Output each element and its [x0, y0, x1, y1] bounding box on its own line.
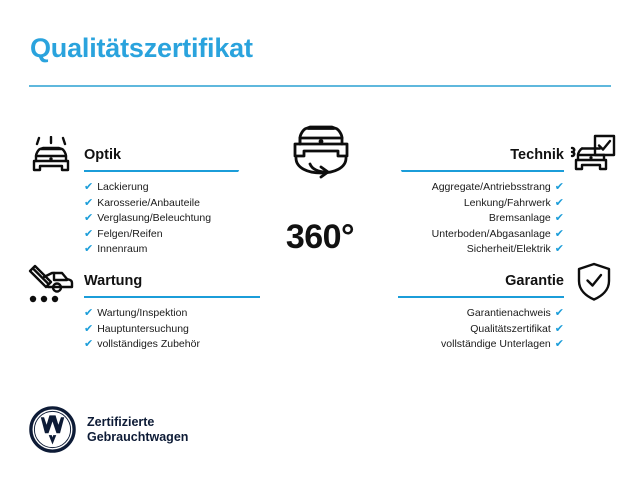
badge-number: 360° [228, 218, 412, 257]
list-item-label: Qualitätszertifikat [470, 323, 551, 335]
check-icon: ✔ [84, 211, 93, 227]
list-item-label: Lackierung [97, 181, 148, 193]
vw-footer-line1: Zertifizierte [87, 415, 188, 430]
check-icon: ✔ [84, 306, 93, 322]
section-garantie-divider [398, 296, 564, 298]
list-item: ✔vollständiges Zubehör [84, 337, 260, 353]
check-icon: ✔ [84, 337, 93, 353]
section-garantie-header: Garantie [398, 272, 564, 298]
list-item: vollständige Unterlagen✔ [398, 337, 564, 353]
list-item-label: Hauptuntersuchung [97, 323, 189, 335]
list-item-label: Sicherheit/Elektrik [467, 243, 551, 255]
list-item: Bremsanlage✔ [398, 211, 564, 227]
list-item: Garantienachweis✔ [398, 306, 564, 322]
check-icon: ✔ [84, 227, 93, 243]
section-wartung-list: ✔Wartung/Inspektion ✔Hauptuntersuchung ✔… [84, 306, 260, 353]
list-item-label: Garantienachweis [467, 307, 551, 319]
list-item-label: Innenraum [97, 243, 147, 255]
car-rotate-icon [276, 110, 366, 182]
list-item: Sicherheit/Elektrik✔ [398, 242, 564, 258]
vw-logo [29, 406, 76, 453]
check-icon: ✔ [84, 180, 93, 196]
list-item: Aggregate/Antriebsstrang✔ [398, 180, 564, 196]
list-item: Unterboden/Abgasanlage✔ [398, 227, 564, 243]
section-garantie-title: Garantie [398, 272, 564, 290]
check-icon: ✔ [555, 227, 564, 243]
check-icon: ✔ [555, 196, 564, 212]
section-technik-divider [398, 170, 564, 172]
car-shine-icon [26, 136, 76, 183]
check-icon: ✔ [84, 322, 93, 338]
section-technik-list: Aggregate/Antriebsstrang✔ Lenkung/Fahrwe… [398, 180, 564, 258]
section-garantie: Garantie Garantienachweis✔ Qualitätszert… [398, 272, 564, 353]
check-icon: ✔ [555, 242, 564, 258]
car-checkbox-icon [569, 134, 617, 183]
360-gebrauchtwagen-check-badge: Gebrauchtwagen-Check 360° [228, 122, 412, 306]
section-technik-header: Technik [398, 146, 564, 172]
list-item-label: Bremsanlage [489, 212, 551, 224]
check-icon: ✔ [84, 242, 93, 258]
list-item-label: Aggregate/Antriebsstrang [432, 181, 551, 193]
list-item-label: Karosserie/Anbauteile [97, 197, 200, 209]
vw-footer-text: Zertifizierte Gebrauchtwagen [87, 415, 188, 445]
title-divider [29, 85, 611, 87]
list-item-label: Unterboden/Abgasanlage [432, 228, 551, 240]
check-icon: ✔ [84, 196, 93, 212]
check-icon: ✔ [555, 337, 564, 353]
check-icon: ✔ [555, 306, 564, 322]
vw-footer-line2: Gebrauchtwagen [87, 430, 188, 445]
check-icon: ✔ [555, 211, 564, 227]
list-item-label: vollständiges Zubehör [97, 338, 200, 350]
check-icon: ✔ [555, 322, 564, 338]
section-technik: Technik Aggregate/Antriebsstrang✔ Lenkun… [398, 146, 564, 258]
list-item-label: Verglasung/Beleuchtung [97, 212, 211, 224]
list-item-label: Lenkung/Fahrwerk [464, 197, 551, 209]
qualitaetszertifikat-page: Qualitätszertifikat Optik ✔Lackierung ✔K… [0, 0, 640, 480]
list-item-label: Wartung/Inspektion [97, 307, 187, 319]
page-title: Qualitätszertifikat [30, 33, 253, 64]
list-item: ✔Wartung/Inspektion [84, 306, 260, 322]
vw-footer: Zertifizierte Gebrauchtwagen [29, 406, 188, 453]
list-item-label: Felgen/Reifen [97, 228, 162, 240]
section-technik-title: Technik [398, 146, 564, 164]
service-pen-car-icon [24, 263, 76, 312]
list-item: Qualitätszertifikat✔ [398, 322, 564, 338]
check-icon: ✔ [555, 180, 564, 196]
shield-check-icon [574, 261, 614, 308]
list-item: ✔Hauptuntersuchung [84, 322, 260, 338]
list-item: Lenkung/Fahrwerk✔ [398, 196, 564, 212]
section-garantie-list: Garantienachweis✔ Qualitätszertifikat✔ v… [398, 306, 564, 353]
list-item-label: vollständige Unterlagen [441, 338, 551, 350]
